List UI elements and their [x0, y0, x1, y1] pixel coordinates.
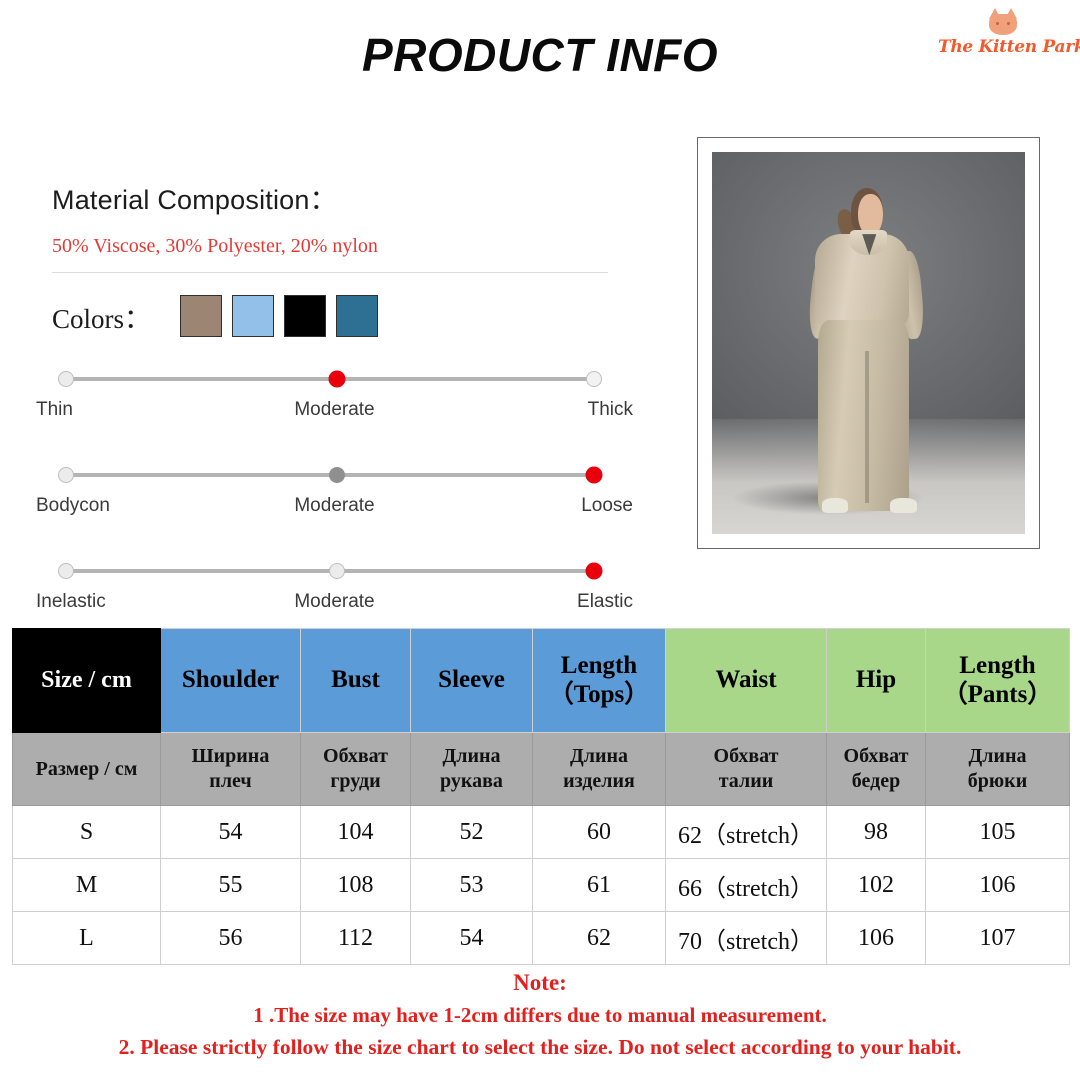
cell-bust: 112 [301, 912, 411, 965]
table-row: L 56 112 54 62 70（stretch） 106 107 [13, 912, 1070, 965]
cell-length-tops: 60 [533, 806, 666, 859]
slider-knob-selected[interactable] [586, 563, 603, 580]
header-length-pants-sub: （Pants） [926, 681, 1069, 710]
cell-size: S [13, 806, 161, 859]
slider-label-left: Inelastic [36, 591, 216, 613]
slider-knob-mid [329, 467, 345, 483]
brand-name: The Kitten Park [938, 37, 1068, 57]
slider-label-mid: Moderate [240, 399, 430, 421]
slider-knob-mid [329, 563, 345, 579]
slider-label-left: Thin [36, 399, 216, 421]
product-attributes-panel: Material Composition： 50% Viscose, 30% P… [52, 178, 652, 655]
header-length-pants-main: Length [926, 652, 1069, 681]
page-title: PRODUCT INFO [0, 28, 1080, 82]
slider-knob-selected[interactable] [586, 467, 603, 484]
header-sleeve: Sleeve [411, 629, 533, 733]
header-ru-sleeve-sub: рукава [411, 769, 532, 794]
slider-knob-start [58, 371, 74, 387]
header-ru-length-pants: Длина брюки [926, 733, 1070, 806]
slider-fit[interactable]: Bodycon Moderate Loose [52, 463, 652, 559]
color-swatch-steel-blue[interactable] [336, 295, 378, 337]
cell-sleeve: 52 [411, 806, 533, 859]
header-ru-shoulder: Ширина плеч [161, 733, 301, 806]
header-ru-length-tops-main: Длина [533, 744, 665, 769]
slider-knob-selected[interactable] [329, 371, 346, 388]
slider-label-mid: Moderate [240, 495, 430, 517]
slider-label-right: Loose [453, 495, 633, 517]
header-ru-hip-main: Обхват [827, 744, 925, 769]
header-ru-shoulder-sub: плеч [161, 769, 300, 794]
product-photo-frame [697, 137, 1040, 549]
header-ru-sleeve-main: Длина [411, 744, 532, 769]
header-ru-length-pants-main: Длина [926, 744, 1069, 769]
cell-waist: 70（stretch） [666, 912, 827, 965]
header-ru-waist-sub: талии [666, 769, 826, 794]
cell-hip: 106 [827, 912, 926, 965]
note-line-1: 1 .The size may have 1-2cm differs due t… [0, 1003, 1080, 1028]
header-ru-hip-sub: бедер [827, 769, 925, 794]
slider-labels: Bodycon Moderate Loose [52, 495, 608, 517]
header-ru-hip: Обхват бедер [827, 733, 926, 806]
cell-shoulder: 54 [161, 806, 301, 859]
color-swatch-taupe[interactable] [180, 295, 222, 337]
cell-shoulder: 56 [161, 912, 301, 965]
header-hip: Hip [827, 629, 926, 733]
color-swatch-black[interactable] [284, 295, 326, 337]
cell-shoulder: 55 [161, 859, 301, 912]
material-composition-heading: Material Composition： [52, 178, 652, 217]
cell-sleeve: 54 [411, 912, 533, 965]
cell-waist: 66（stretch） [666, 859, 827, 912]
header-ru-sleeve: Длина рукава [411, 733, 533, 806]
colors-row: Colors： [52, 295, 652, 337]
section-divider [52, 272, 608, 273]
header-bust: Bust [301, 629, 411, 733]
cell-hip: 98 [827, 806, 926, 859]
slider-labels: Inelastic Moderate Elastic [52, 591, 608, 613]
cell-length-pants: 107 [926, 912, 1070, 965]
table-header-english: Size / cm Shoulder Bust Sleeve Length （T… [13, 629, 1070, 733]
cell-hip: 102 [827, 859, 926, 912]
header-shoulder: Shoulder [161, 629, 301, 733]
cell-length-tops: 61 [533, 859, 666, 912]
header-ru-bust: Обхват груди [301, 733, 411, 806]
slider-knob-start [58, 563, 74, 579]
cell-length-pants: 105 [926, 806, 1070, 859]
colors-label: Colors： [52, 297, 162, 336]
header-ru-bust-main: Обхват [301, 744, 410, 769]
header-ru-length-tops-sub: изделия [533, 769, 665, 794]
cell-sleeve: 53 [411, 859, 533, 912]
header-length-tops: Length （Tops） [533, 629, 666, 733]
brand-logo: The Kitten Park [938, 8, 1068, 74]
slider-label-mid: Moderate [240, 591, 430, 613]
header-ru-length-tops: Длина изделия [533, 733, 666, 806]
cat-face-icon [986, 8, 1020, 36]
header-ru-waist: Обхват талии [666, 733, 827, 806]
header-ru-waist-main: Обхват [666, 744, 826, 769]
note-section: Note: 1 .The size may have 1-2cm differs… [0, 970, 1080, 1060]
header-waist: Waist [666, 629, 827, 733]
attribute-sliders: Thin Moderate Thick Bodycon Moderate Loo… [52, 367, 652, 655]
header-ru-size: Размер / см [13, 733, 161, 806]
cell-length-pants: 106 [926, 859, 1070, 912]
header-length-pants: Length （Pants） [926, 629, 1070, 733]
slider-labels: Thin Moderate Thick [52, 399, 608, 421]
table-row: S 54 104 52 60 62（stretch） 98 105 [13, 806, 1070, 859]
header-ru-length-pants-sub: брюки [926, 769, 1069, 794]
color-swatch-list [180, 295, 378, 337]
product-photo [712, 152, 1025, 534]
slider-label-right: Elastic [453, 591, 633, 613]
slider-knob-start [58, 467, 74, 483]
material-composition-value: 50% Viscose, 30% Polyester, 20% nylon [52, 235, 652, 258]
header-size: Size / cm [13, 629, 161, 733]
cell-size: L [13, 912, 161, 965]
cell-size: M [13, 859, 161, 912]
header-length-tops-main: Length [533, 652, 665, 681]
table-header-russian: Размер / см Ширина плеч Обхват груди Дли… [13, 733, 1070, 806]
cell-bust: 104 [301, 806, 411, 859]
slider-label-left: Bodycon [36, 495, 216, 517]
header-ru-shoulder-main: Ширина [161, 744, 300, 769]
cell-length-tops: 62 [533, 912, 666, 965]
header-ru-bust-sub: груди [301, 769, 410, 794]
slider-label-right: Thick [453, 399, 633, 421]
slider-knob-end [586, 371, 602, 387]
cell-bust: 108 [301, 859, 411, 912]
header-length-tops-sub: （Tops） [533, 681, 665, 710]
note-line-2: 2. Please strictly follow the size chart… [0, 1035, 1080, 1060]
table-row: M 55 108 53 61 66（stretch） 102 106 [13, 859, 1070, 912]
color-swatch-light-blue[interactable] [232, 295, 274, 337]
slider-thickness[interactable]: Thin Moderate Thick [52, 367, 652, 463]
cell-waist: 62（stretch） [666, 806, 827, 859]
note-title: Note: [0, 970, 1080, 996]
size-chart-table: Size / cm Shoulder Bust Sleeve Length （T… [12, 628, 1070, 965]
model-figure [712, 152, 1025, 534]
